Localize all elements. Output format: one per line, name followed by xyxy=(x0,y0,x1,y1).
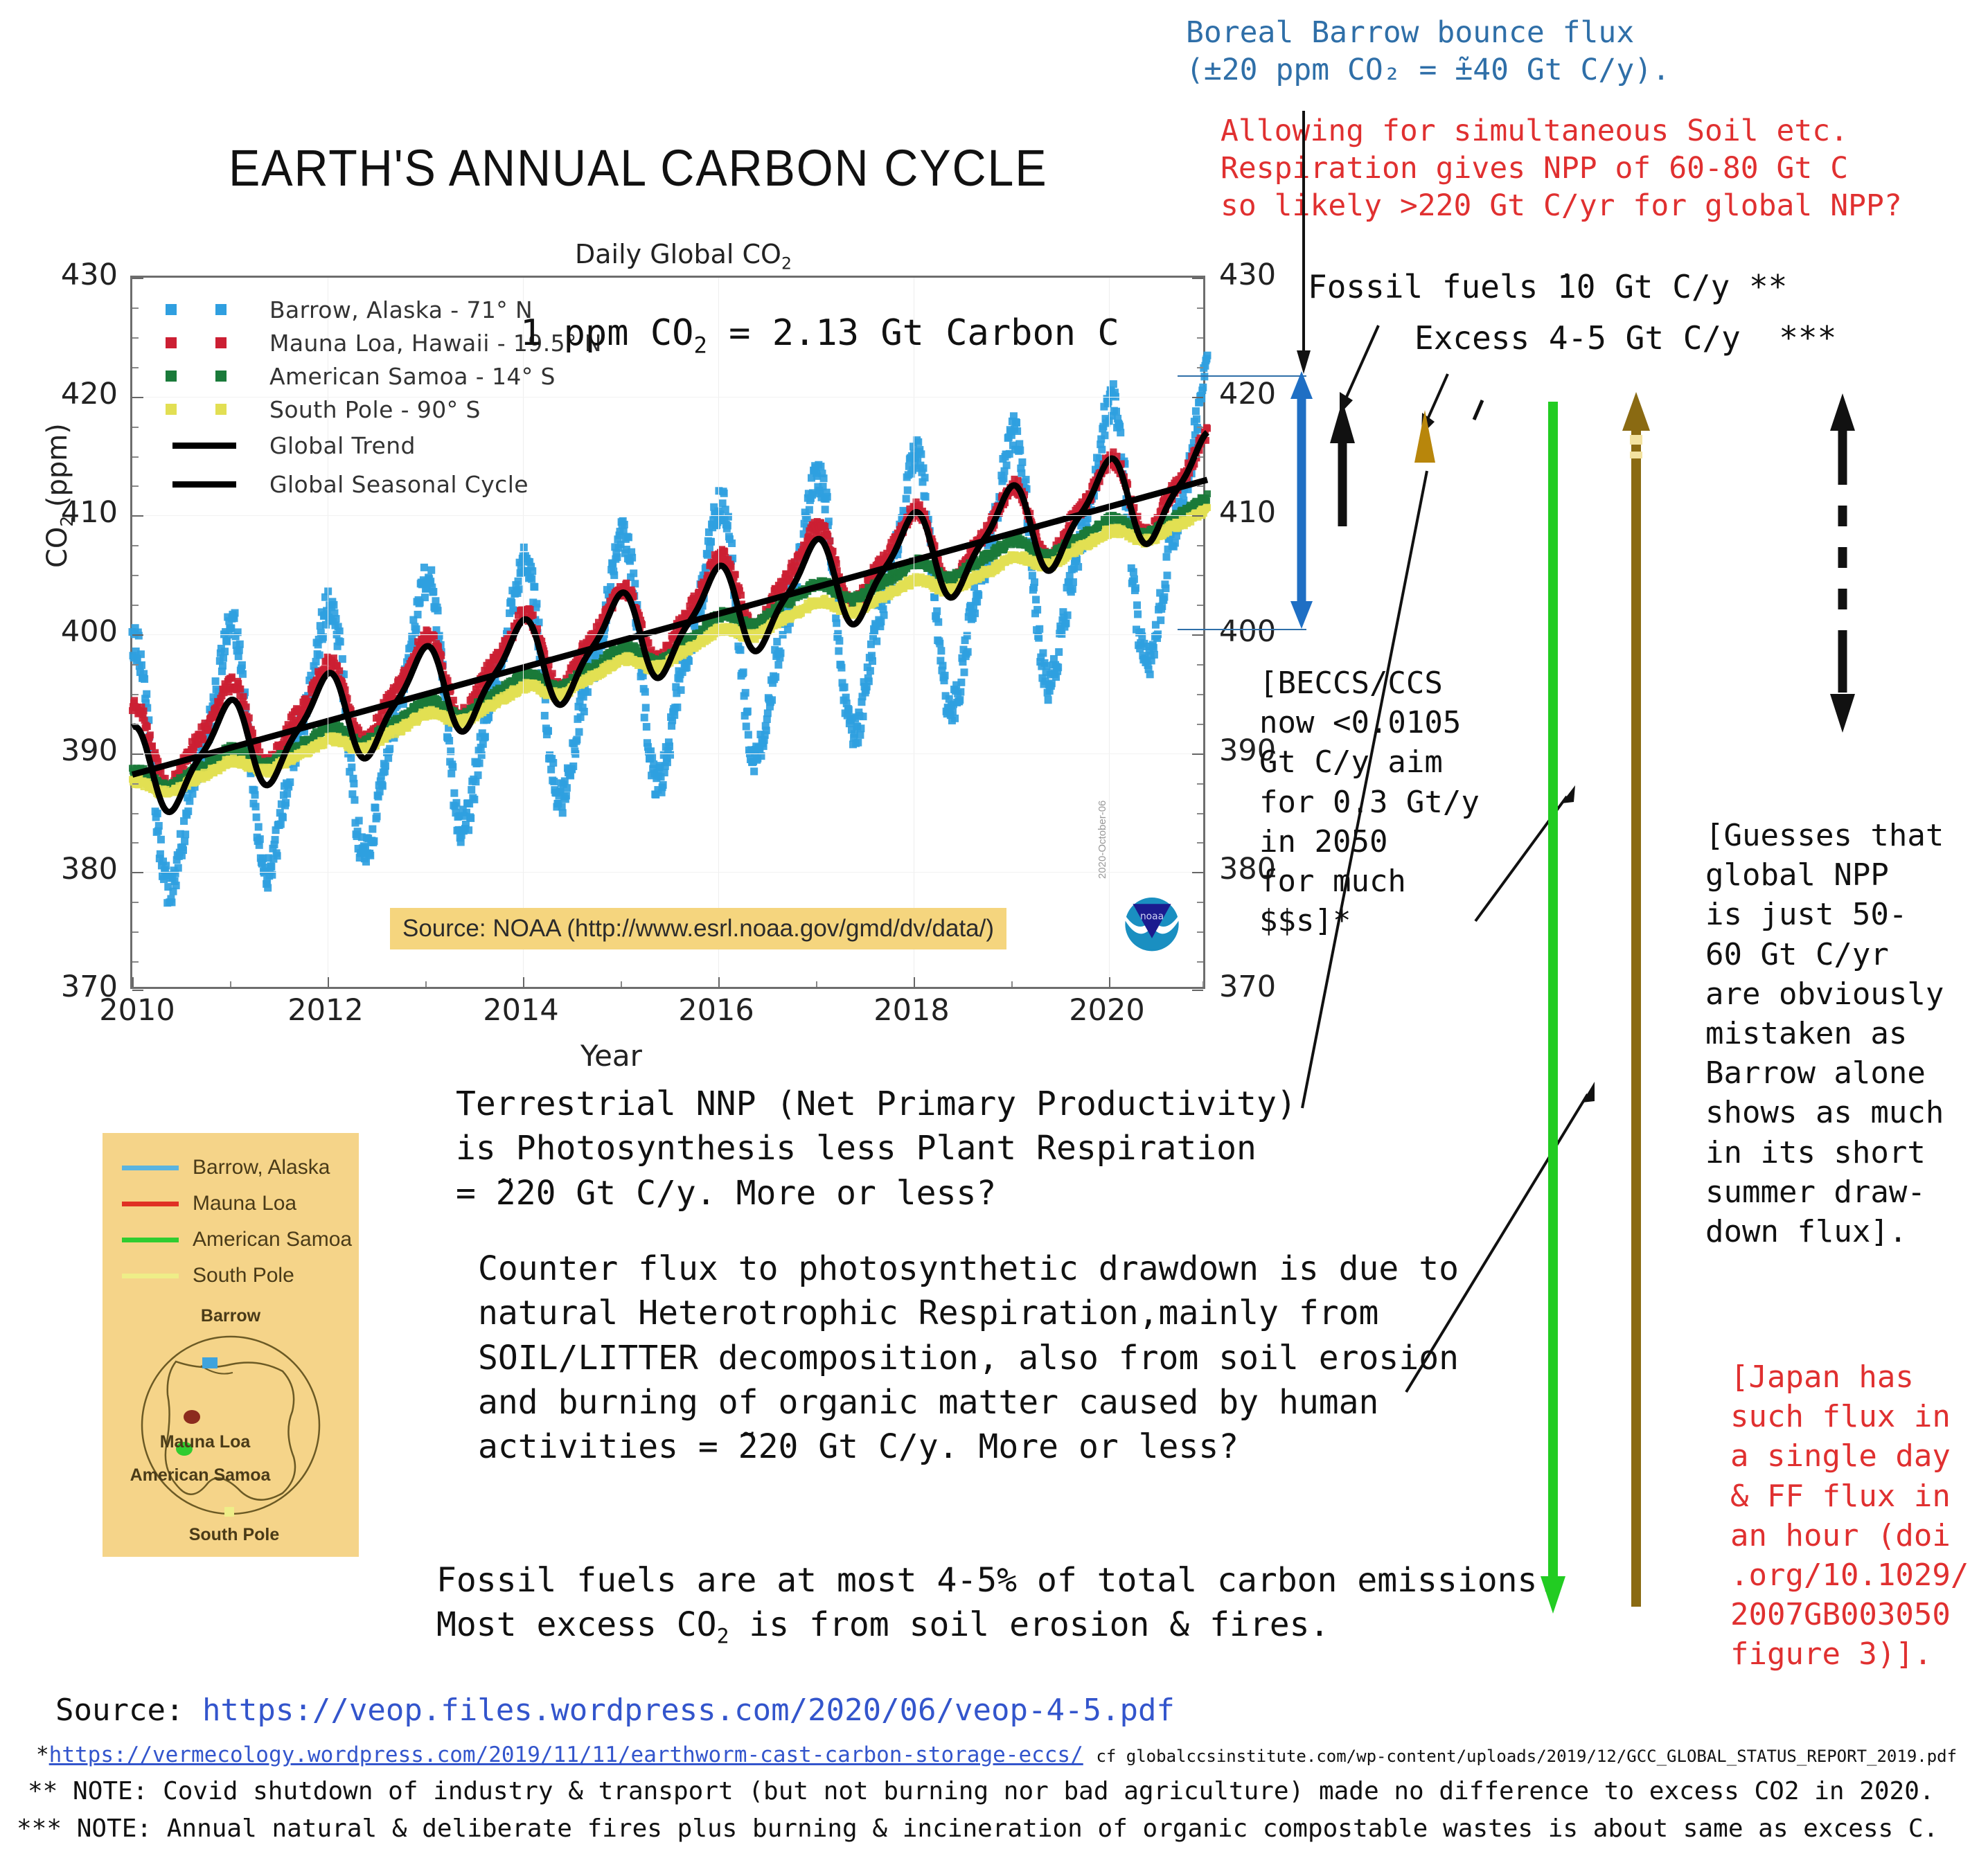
station-map-card: Barrow, Alaska Mauna Loa American Samoa … xyxy=(103,1133,359,1557)
south-pole-line-icon xyxy=(122,1274,179,1278)
barrow-line-icon xyxy=(122,1166,179,1170)
source-label: Source: xyxy=(55,1693,184,1728)
map-legend-item-american-samoa: American Samoa xyxy=(103,1222,359,1258)
note-double-star: ** NOTE: Covid shutdown of industry & tr… xyxy=(28,1777,1935,1805)
map-legend-item-south-pole: South Pole xyxy=(103,1258,359,1294)
mauna-loa-line-icon xyxy=(122,1202,179,1206)
star-url-link[interactable]: https://vermecology.wordpress.com/2019/1… xyxy=(49,1742,1083,1767)
star-marker: * xyxy=(36,1742,49,1767)
globe-icon xyxy=(134,1328,327,1522)
map-caption-south-pole: South Pole xyxy=(172,1525,296,1545)
map-caption-mauna-loa: Mauna Loa xyxy=(136,1432,274,1452)
annotation-leader-lines xyxy=(0,0,1988,1856)
map-caption-american-samoa: American Samoa xyxy=(114,1465,287,1485)
star-cf-reference: cf globalccsinstitute.com/wp-content/upl… xyxy=(1096,1747,1957,1766)
source-url-link[interactable]: https://veop.files.wordpress.com/2020/06… xyxy=(202,1693,1175,1728)
note-triple-star: *** NOTE: Annual natural & deliberate fi… xyxy=(17,1814,1938,1843)
american-samoa-line-icon xyxy=(122,1238,179,1242)
source-line: Source: https://veop.files.wordpress.com… xyxy=(55,1693,1175,1728)
star-footnote-line: *https://vermecology.wordpress.com/2019/… xyxy=(36,1742,1957,1767)
map-legend-item-barrow: Barrow, Alaska xyxy=(103,1150,359,1186)
map-caption-barrow: Barrow xyxy=(172,1306,290,1326)
map-legend-item-mauna-loa: Mauna Loa xyxy=(103,1186,359,1222)
